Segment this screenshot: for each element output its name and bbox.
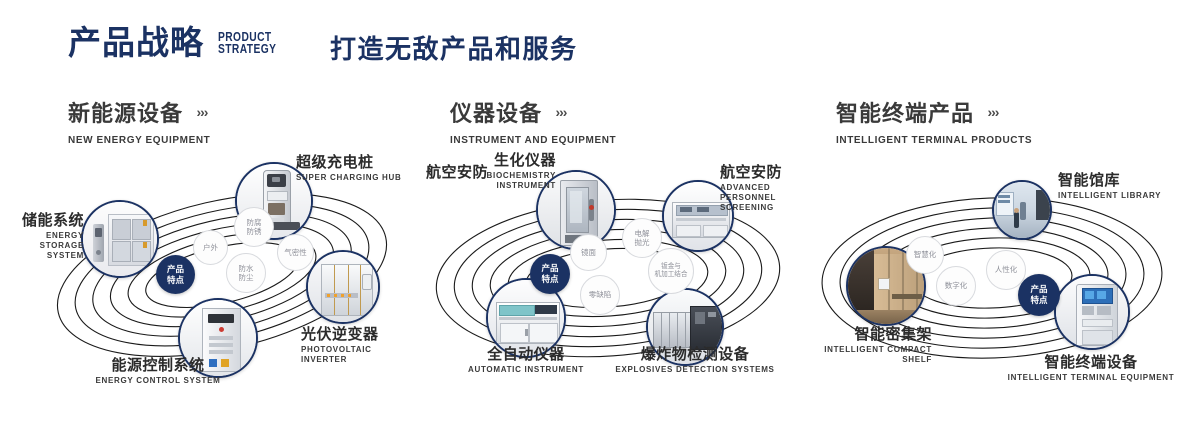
page-title: 产品战略 [68,26,204,59]
product-label-en: SUPER CHARGING HUB [296,173,402,183]
poster-header: 产品战略 PRODUCT STRATEGY [68,26,289,59]
product-label-en: AUTOMATIC INSTRUMENT [446,365,606,375]
product-label-en: EXPLOSIVES DETECTION SYSTEMS [604,365,786,375]
section-header-instrument: 仪器设备 ››› INSTRUMENT AND EQUIPMENT [450,96,616,146]
diagram-instrument: 产品 特点 镜面 电解 抛光 零缺陷 钣金与 机加工结合 航空安防 生化仪器 B… [418,150,798,400]
chevron-right-icon: ››› [555,104,566,120]
product-label-biochemistry-instrument: 生化仪器 BIOCHEMISTRY INSTRUMENT [428,152,556,191]
product-label-en: ENERGY STORAGE SYSTEM [8,231,84,261]
product-label-cn: 智能馆库 [1058,172,1161,189]
product-label-en: INTELLIGENT COMPACT SHELF [792,345,932,365]
product-label-photovoltaic-inverter: 光伏逆变器 PHOTOVOLTAIC INVERTER [301,326,410,365]
product-label-cn: 能源控制系统 [78,357,238,374]
feature-bubble: 户外 [193,230,228,265]
feature-bubble: 数字化 [936,266,976,306]
product-label-intelligent-library: 智能馆库 INTELLIGENT LIBRARY [1058,172,1161,201]
page-slogan: 打造无敌产品和服务 [330,36,578,62]
feature-bubble-primary: 产品 特点 [530,254,570,294]
product-label-explosives-detection: 爆炸物检测设备 EXPLOSIVES DETECTION SYSTEMS [604,346,786,375]
product-label-cn: 智能终端设备 [996,354,1186,371]
product-node-terminal-equipment[interactable] [1054,274,1130,350]
product-label-en: INTELLIGENT TERMINAL EQUIPMENT [996,373,1186,383]
product-label-super-charging-hub: 超级充电桩 SUPER CHARGING HUB [296,154,402,183]
chevron-right-icon: ››› [987,104,998,120]
product-label-en: PHOTOVOLTAIC INVERTER [301,345,410,365]
feature-bubble-primary: 产品 特点 [156,255,195,294]
feature-bubble: 智慧化 [906,236,944,274]
product-label-cn: 光伏逆变器 [301,326,410,343]
product-label-compact-shelf: 智能密集架 INTELLIGENT COMPACT SHELF [792,326,932,365]
feature-bubble: 防腐 防锈 [234,207,274,247]
chevron-right-icon: ››› [196,104,207,120]
product-label-cn: 生化仪器 [428,152,556,169]
pv-inverter-photo [308,252,378,322]
feature-bubble-primary: 产品 特点 [1018,274,1060,316]
product-label-en: INTELLIGENT LIBRARY [1058,191,1161,201]
section-title-cn: 新能源设备 [68,96,183,128]
feature-bubble: 气密性 [277,234,314,271]
product-label-en: BIOCHEMISTRY INSTRUMENT [428,171,556,191]
product-label-cn: 航空安防 [720,164,798,181]
diagram-new-energy: 产品 特点 户外 防腐 防锈 防水 防尘 气密性 储能系统 ENERGY STO… [40,150,410,400]
feature-bubble: 镜面 [570,234,607,271]
poster-canvas: 产品战略 PRODUCT STRATEGY 打造无敌产品和服务 新能源设备 ››… [0,0,1200,422]
intelligent-library-photo [994,182,1050,238]
product-label-en: ENERGY CONTROL SYSTEM [78,376,238,386]
section-title-cn: 仪器设备 [450,96,542,128]
product-label-personnel-screening: 航空安防 ADVANCED PERSONNEL SCREENING [720,164,798,213]
product-label-cn: 爆炸物检测设备 [604,346,786,363]
feature-bubble: 零缺陷 [580,275,620,315]
product-label-automatic-instrument: 全自动仪器 AUTOMATIC INSTRUMENT [446,346,606,375]
product-label-terminal-equipment: 智能终端设备 INTELLIGENT TERMINAL EQUIPMENT [996,354,1186,383]
product-label-en: ADVANCED PERSONNEL SCREENING [720,183,798,213]
diagram-intelligent-terminal: 智慧化 数字化 人性化 产品 特点 智能馆库 INTELLIGENT LIBRA… [800,150,1190,400]
page-title-en: PRODUCT STRATEGY [218,31,276,60]
terminal-equipment-photo [1056,276,1128,348]
product-label-cn: 智能密集架 [792,326,932,343]
feature-bubble: 钣金与 机加工结合 [648,248,694,294]
section-title-en: NEW ENERGY EQUIPMENT [68,135,210,146]
section-title-cn: 智能终端产品 [836,96,974,128]
section-title-en: INTELLIGENT TERMINAL PRODUCTS [836,135,1032,146]
section-header-intelligent-terminal: 智能终端产品 ››› INTELLIGENT TERMINAL PRODUCTS [836,96,1032,146]
product-node-photovoltaic-inverter[interactable] [306,250,380,324]
product-label-energy-storage: 储能系统 ENERGY STORAGE SYSTEM [8,212,84,261]
section-title-en: INSTRUMENT AND EQUIPMENT [450,135,616,146]
product-label-cn: 超级充电桩 [296,154,402,171]
product-label-cn: 储能系统 [8,212,84,229]
section-header-new-energy: 新能源设备 ››› NEW ENERGY EQUIPMENT [68,96,210,146]
product-label-energy-control: 能源控制系统 ENERGY CONTROL SYSTEM [78,357,238,386]
product-label-cn: 全自动仪器 [446,346,606,363]
product-node-intelligent-library[interactable] [992,180,1052,240]
feature-bubble: 防水 防尘 [226,253,266,293]
energy-storage-photo [83,202,157,276]
product-node-energy-storage[interactable] [81,200,159,278]
